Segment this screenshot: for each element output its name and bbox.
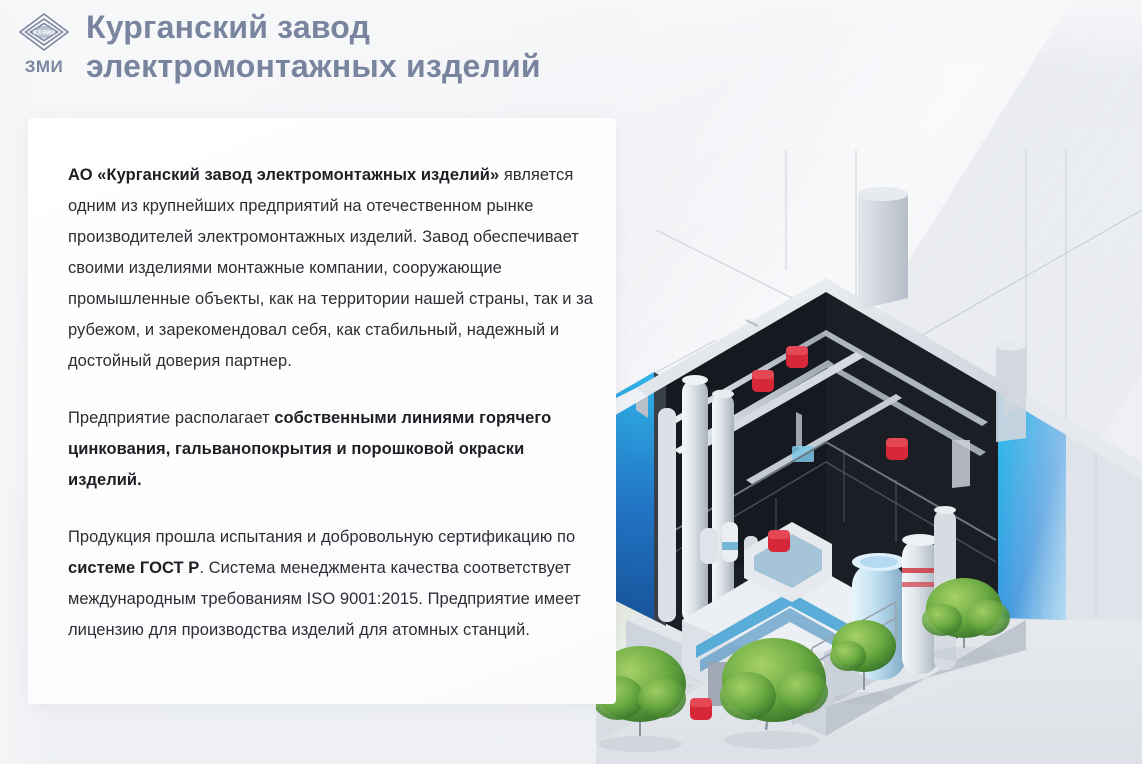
page-header: КЗЭМИ ЗМИ Курганский завод электромонтаж… — [0, 0, 1142, 96]
factory-illustration — [596, 150, 1142, 764]
company-logo: КЗЭМИ ЗМИ — [14, 10, 74, 86]
text-emphasis: АО «Курганский завод электромонтажных из… — [68, 166, 499, 184]
red-marker — [752, 370, 774, 392]
text-emphasis: системе ГОСТ Р — [68, 559, 199, 577]
logo-inner-text: КЗЭМИ — [33, 30, 54, 36]
text-run: является одним из крупнейших предприятий… — [68, 166, 593, 370]
content-card: АО «Курганский завод электромонтажных из… — [28, 118, 616, 704]
red-marker — [886, 438, 908, 460]
column-tanks-left — [658, 375, 734, 624]
red-marker — [768, 530, 790, 552]
text-run: Продукция прошла испытания и добровольну… — [68, 528, 575, 546]
paragraph-certification: Продукция прошла испытания и добровольну… — [68, 522, 594, 646]
logo-bottom-text: ЗМИ — [25, 57, 64, 76]
paragraph-intro: АО «Курганский завод электромонтажных из… — [68, 160, 594, 377]
paragraph-production-lines: Предприятие располагает собственными лин… — [68, 403, 594, 496]
page-title-line-1: Курганский завод — [86, 8, 806, 47]
content-card-body: АО «Курганский завод электромонтажных из… — [68, 160, 594, 646]
red-marker — [690, 698, 712, 720]
page-title: Курганский завод электромонтажных издели… — [86, 8, 806, 86]
slide-root: КЗЭМИ ЗМИ Курганский завод электромонтаж… — [0, 0, 1142, 764]
red-marker — [786, 346, 808, 368]
page-title-line-2: электромонтажных изделий — [86, 47, 806, 86]
text-run: Предприятие располагает — [68, 409, 274, 427]
